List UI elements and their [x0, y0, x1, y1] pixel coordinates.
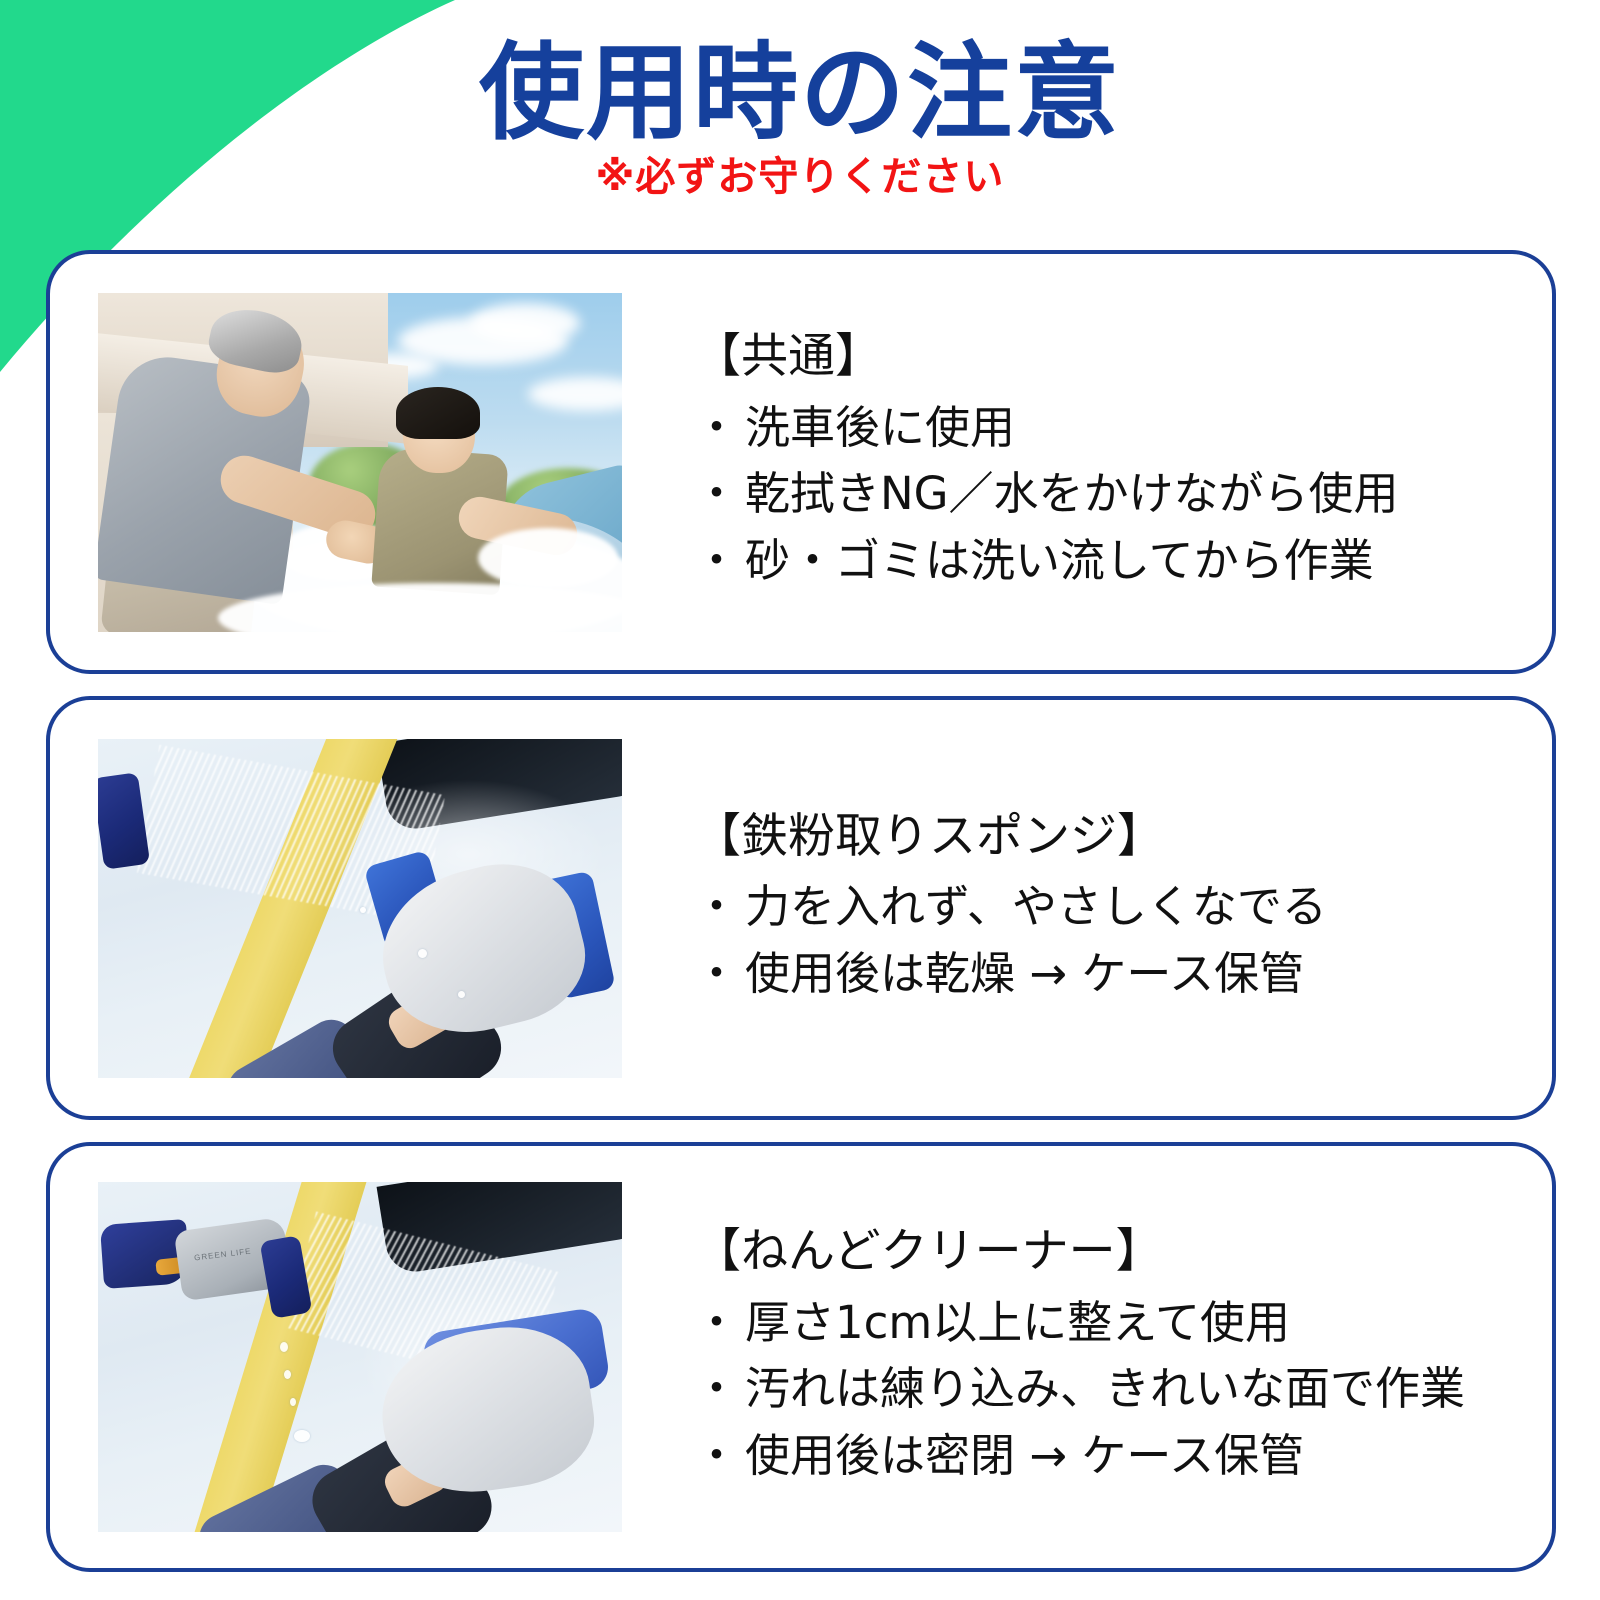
photo-family-washing-car: [98, 293, 622, 632]
water-droplet: [284, 1370, 291, 1379]
bullet-marker: ・: [694, 1356, 739, 1423]
instruction-card-common: 【共通】 ・ 洗車後に使用 ・ 乾拭きNG／水をかけながら使用 ・ 砂・ゴミは洗…: [46, 250, 1556, 674]
scene-sponge-car-hood: [98, 739, 622, 1078]
water-droplet: [458, 991, 465, 998]
section-heading: 【共通】: [694, 329, 1536, 384]
bullet-list: ・ 洗車後に使用 ・ 乾拭きNG／水をかけながら使用 ・ 砂・ゴミは洗い流してか…: [694, 395, 1536, 595]
list-item: ・ 厚さ1cm以上に整えて使用: [694, 1290, 1536, 1357]
bullet-text: 砂・ゴミは洗い流してから作業: [745, 528, 1374, 595]
bullet-list: ・ 厚さ1cm以上に整えて使用 ・ 汚れは練り込み、きれいな面で作業 ・ 使用後…: [694, 1290, 1536, 1490]
bullet-text: 厚さ1cm以上に整えて使用: [745, 1290, 1290, 1357]
section-heading: 【鉄粉取りスポンジ】: [694, 809, 1536, 864]
bullet-marker: ・: [694, 941, 739, 1008]
photo-sponge-on-hood: [98, 739, 622, 1078]
list-item: ・ 乾拭きNG／水をかけながら使用: [694, 461, 1536, 528]
bullet-marker: ・: [694, 874, 739, 941]
water-droplet: [294, 1430, 310, 1442]
bullet-text: 汚れは練り込み、きれいな面で作業: [745, 1356, 1465, 1423]
bullet-text: 使用後は密閉 → ケース保管: [745, 1423, 1304, 1490]
bullet-marker: ・: [694, 1290, 739, 1357]
list-item: ・ 力を入れず、やさしくなでる: [694, 874, 1536, 941]
photo-hose-and-clay-cleaner: GREEN LIFE: [98, 1182, 622, 1532]
bullet-marker: ・: [694, 461, 739, 528]
bullet-text: 乾拭きNG／水をかけながら使用: [745, 461, 1399, 528]
scene-family-car-wash: [98, 293, 622, 632]
boy-hair: [396, 387, 480, 439]
page-subtitle: ※必ずお守りください: [0, 149, 1600, 199]
bullet-text: 使用後は乾燥 → ケース保管: [745, 941, 1304, 1008]
bullet-list: ・ 力を入れず、やさしくなでる ・ 使用後は乾燥 → ケース保管: [694, 874, 1536, 1007]
list-item: ・ 洗車後に使用: [694, 395, 1536, 462]
soap-foam: [478, 528, 618, 588]
page-header: 使用時の注意 ※必ずお守りください: [0, 0, 1600, 240]
cloud-shape: [470, 303, 580, 343]
page-title: 使用時の注意: [0, 0, 1600, 149]
water-droplet: [290, 1398, 296, 1406]
card-text-block: 【ねんどクリーナー】 ・ 厚さ1cm以上に整えて使用 ・ 汚れは練り込み、きれい…: [622, 1224, 1552, 1489]
list-item: ・ 砂・ゴミは洗い流してから作業: [694, 528, 1536, 595]
card-text-block: 【共通】 ・ 洗車後に使用 ・ 乾拭きNG／水をかけながら使用 ・ 砂・ゴミは洗…: [622, 329, 1552, 594]
card-text-block: 【鉄粉取りスポンジ】 ・ 力を入れず、やさしくなでる ・ 使用後は乾燥 → ケー…: [622, 809, 1552, 1008]
list-item: ・ 使用後は密閉 → ケース保管: [694, 1423, 1536, 1490]
list-item: ・ 汚れは練り込み、きれいな面で作業: [694, 1356, 1536, 1423]
bullet-marker: ・: [694, 528, 739, 595]
instruction-card-iron-sponge: 【鉄粉取りスポンジ】 ・ 力を入れず、やさしくなでる ・ 使用後は乾燥 → ケー…: [46, 696, 1556, 1120]
bullet-text: 洗車後に使用: [745, 395, 1015, 462]
section-heading: 【ねんどクリーナー】: [694, 1224, 1536, 1279]
water-droplet: [360, 907, 366, 913]
instruction-card-list: 【共通】 ・ 洗車後に使用 ・ 乾拭きNG／水をかけながら使用 ・ 砂・ゴミは洗…: [46, 250, 1556, 1594]
bullet-text: 力を入れず、やさしくなでる: [745, 874, 1327, 941]
instruction-card-clay-cleaner: GREEN LIFE 【ねんどクリーナー】 ・ 厚さ1cm以上に整えて使用: [46, 1142, 1556, 1572]
water-droplet: [418, 949, 427, 958]
scene-hose-clay-cleaner: GREEN LIFE: [98, 1182, 622, 1532]
bullet-marker: ・: [694, 1423, 739, 1490]
bullet-marker: ・: [694, 395, 739, 462]
list-item: ・ 使用後は乾燥 → ケース保管: [694, 941, 1536, 1008]
water-droplet: [280, 1342, 288, 1352]
